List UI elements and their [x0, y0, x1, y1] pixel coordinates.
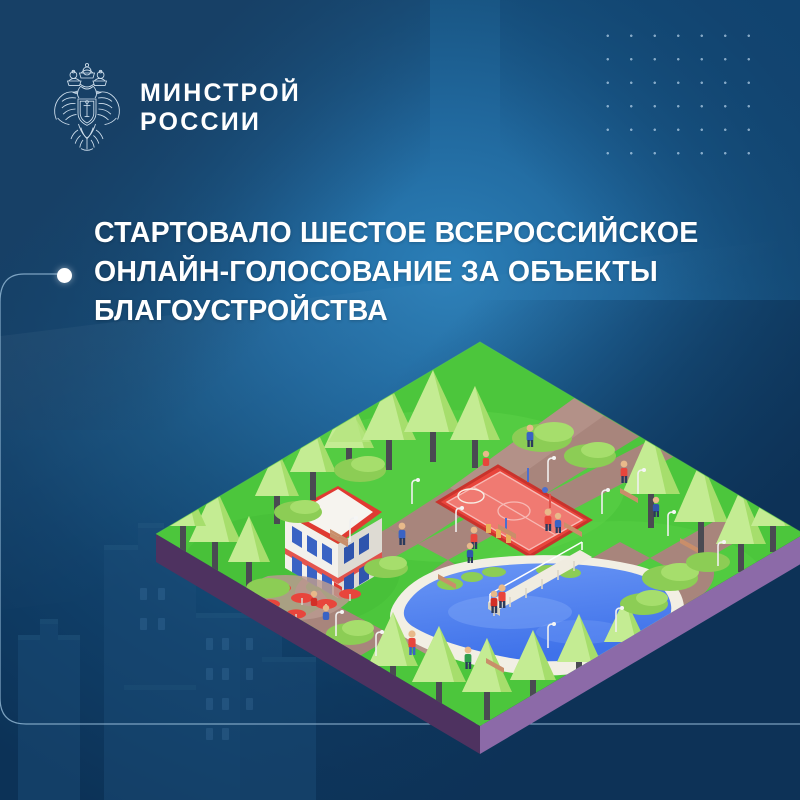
- headline-line-3: БЛАГОУСТРОЙСТВА: [94, 292, 734, 331]
- russian-double-headed-eagle-emblem: [48, 62, 126, 154]
- headline: СТАРТОВАЛО ШЕСТОЕ ВСЕРОССИЙСКОЕ ОНЛАЙН-Г…: [94, 214, 734, 331]
- logo-line-1: МИНСТРОЙ: [140, 79, 301, 109]
- park-svg: [150, 336, 800, 756]
- logo-text: МИНСТРОЙ РОССИИ: [140, 79, 301, 138]
- ministry-logo: МИНСТРОЙ РОССИИ: [48, 62, 301, 154]
- accent-dot: [57, 268, 72, 283]
- isometric-park-illustration: [150, 336, 800, 756]
- logo-line-2: РОССИИ: [140, 108, 301, 138]
- headline-line-2: ОНЛАЙН-ГОЛОСОВАНИЕ ЗА ОБЪЕКТЫ: [94, 253, 734, 292]
- poster-root: МИНСТРОЙ РОССИИ СТАРТОВАЛО ШЕСТОЕ ВСЕРОС…: [0, 0, 800, 800]
- headline-line-1: СТАРТОВАЛО ШЕСТОЕ ВСЕРОССИЙСКОЕ: [94, 214, 734, 253]
- dot-grid-pattern: [592, 20, 750, 170]
